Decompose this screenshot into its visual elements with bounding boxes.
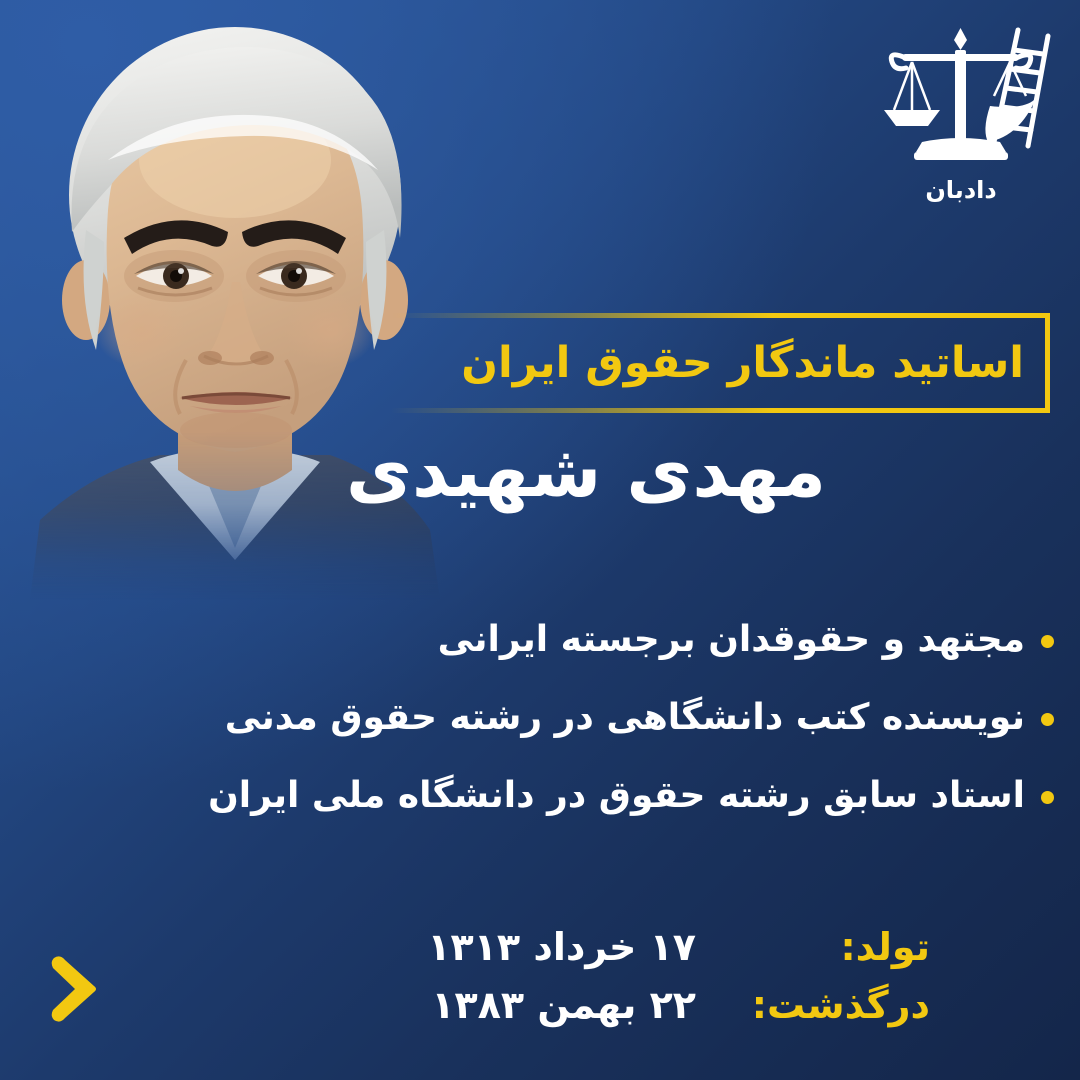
list-item: استاد سابق رشته حقوق در دانشگاه ملی ایرا…	[34, 756, 1054, 834]
bullet-text: مجتهد و حقوقدان برجسته ایرانی	[438, 619, 1025, 660]
death-date-row: درگذشت: ۲۲ بهمن ۱۳۸۳	[190, 983, 930, 1041]
list-item: نویسنده کتب دانشگاهی در رشته حقوق مدنی	[34, 678, 1054, 756]
biography-bullet-list: مجتهد و حقوقدان برجسته ایرانی نویسنده کت…	[34, 600, 1054, 834]
chevron-right-icon	[42, 952, 102, 1026]
bullet-text: استاد سابق رشته حقوق در دانشگاه ملی ایرا…	[208, 775, 1025, 816]
brand-name: دادبان	[870, 176, 1052, 204]
birth-date-row: تولد: ۱۷ خرداد ۱۳۱۳	[190, 925, 930, 983]
birth-date-label: تولد:	[720, 925, 930, 969]
series-banner-label: اساتید ماندگار حقوق ایران	[461, 342, 1024, 385]
life-dates: تولد: ۱۷ خرداد ۱۳۱۳ درگذشت: ۲۲ بهمن ۱۳۸۳	[190, 925, 930, 1041]
bullet-dot-icon	[1041, 791, 1054, 804]
death-date-label: درگذشت:	[720, 983, 930, 1027]
banner-right-edge	[1045, 313, 1050, 413]
bullet-dot-icon	[1041, 635, 1054, 648]
list-item: مجتهد و حقوقدان برجسته ایرانی	[34, 600, 1054, 678]
birth-date-value: ۱۷ خرداد ۱۳۱۳	[427, 925, 720, 969]
bullet-text: نویسنده کتب دانشگاهی در رشته حقوق مدنی	[225, 697, 1025, 738]
poster-canvas: دادبان اساتید ماندگار حقوق ایران مهدی شه…	[0, 0, 1080, 1080]
person-name: مهدی شهیدی	[346, 430, 1046, 513]
death-date-value: ۲۲ بهمن ۱۳۸۳	[431, 983, 720, 1027]
scales-of-justice-ladder-quill-icon	[870, 24, 1052, 174]
brand-logo: دادبان	[870, 24, 1052, 202]
series-banner: اساتید ماندگار حقوق ایران	[391, 313, 1050, 413]
bullet-dot-icon	[1041, 713, 1054, 726]
next-slide-button[interactable]	[42, 952, 102, 1026]
